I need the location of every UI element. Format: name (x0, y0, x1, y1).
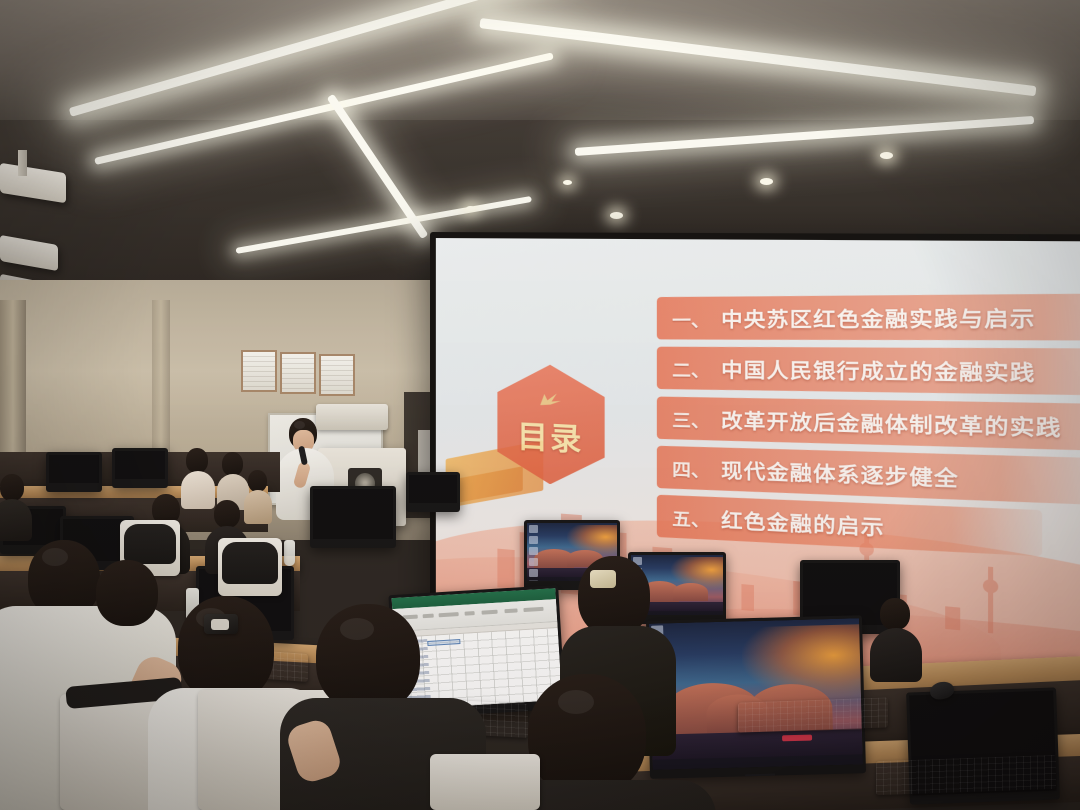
certificate-text-lines (321, 356, 353, 394)
toc-item: 二、 中国人民银行成立的金融实践 (657, 347, 1080, 396)
desktop-wallpaper (649, 618, 863, 769)
monitor (406, 472, 460, 512)
downlight (563, 180, 572, 185)
chair-back (222, 542, 278, 584)
student-head (528, 674, 646, 796)
student-head (96, 560, 158, 626)
wallpaper-accent (782, 735, 812, 742)
toc-item-number: 二、 (672, 355, 710, 382)
certificate-text-lines (243, 352, 275, 390)
desktop-icons[interactable] (529, 525, 542, 581)
framed-certificate (280, 352, 316, 394)
student-head (578, 556, 650, 636)
hair-clip-detail (211, 619, 229, 630)
framed-certificate (319, 354, 355, 396)
monitor-screen (115, 451, 165, 479)
monitor (112, 448, 168, 488)
toc-item-text: 改革开放后金融体制改革的实践 (721, 405, 1062, 442)
keyboard[interactable] (876, 755, 1056, 795)
monitor-screen (313, 489, 393, 539)
monitor-foreground (646, 615, 866, 779)
student-body (870, 628, 922, 682)
toc-item: 三、 改革开放后金融体制改革的实践 (657, 397, 1080, 453)
student-head (222, 452, 243, 476)
toc-item-number: 一、 (672, 305, 710, 332)
framed-certificate (241, 350, 277, 392)
student-head (178, 596, 274, 702)
downlight (880, 152, 893, 159)
monitor-screen (49, 455, 99, 483)
monitor-screen (409, 475, 457, 503)
toc-item-number: 五、 (672, 503, 710, 531)
keyboard[interactable] (738, 697, 888, 732)
chair-back (124, 524, 176, 564)
toc-item: 一、 中央苏区红色金融实践与启示 (657, 293, 1080, 341)
student-head (316, 604, 420, 712)
student-head (186, 448, 208, 473)
downlight (760, 178, 773, 185)
monitor-screen (649, 618, 863, 769)
toc-list: 一、 中央苏区红色金融实践与启示 二、 中国人民银行成立的金融实践 三、 改革开… (657, 291, 1080, 579)
student-head (214, 500, 240, 528)
projector-mount (18, 150, 27, 176)
toc-item-text: 现代金融体系逐步健全 (721, 454, 959, 492)
toc-badge-label: 目录 (517, 412, 583, 461)
toc-item-number: 四、 (672, 454, 710, 482)
student-body (244, 490, 272, 524)
student-body (181, 471, 215, 509)
lecture-hall-photo: 目录 一、 中央苏区红色金融实践与启示 二、 中国人民银行成立的金融实践 三、 … (0, 0, 1080, 810)
toc-item-text: 中国人民银行成立的金融实践 (721, 354, 1036, 387)
toc-item-text: 红色金融的启示 (721, 504, 885, 541)
toc-item-text: 中央苏区红色金融实践与启示 (721, 302, 1036, 333)
student-head (880, 598, 910, 630)
downlight (466, 206, 475, 211)
certificate-text-lines (282, 354, 314, 392)
hair-accessory (590, 570, 616, 588)
downlight (610, 212, 623, 219)
monitor (310, 486, 396, 548)
water-bottle (284, 540, 295, 566)
party-emblem-icon (537, 390, 564, 412)
student-body (0, 499, 32, 541)
monitor (46, 452, 102, 492)
student-head (248, 470, 267, 492)
chair-frame (430, 754, 540, 810)
toc-item-number: 三、 (672, 405, 710, 432)
student-head (0, 474, 24, 501)
air-conditioner-unit (316, 404, 388, 430)
